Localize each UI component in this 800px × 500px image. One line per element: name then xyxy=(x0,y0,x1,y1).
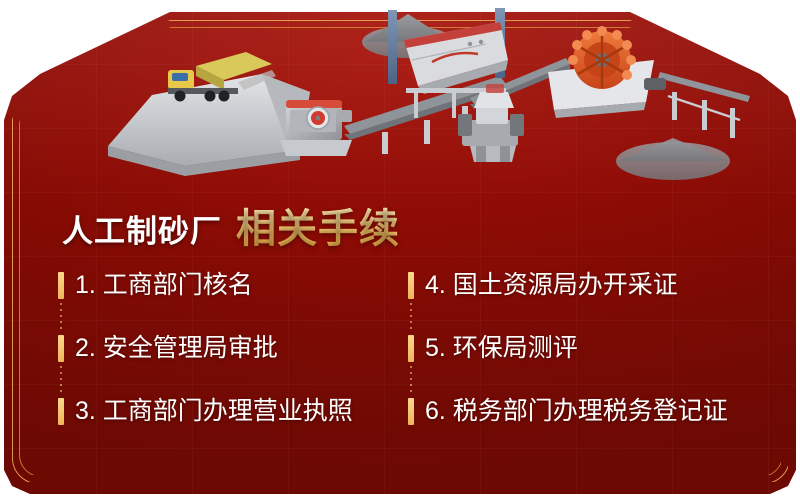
list-item-label: 3. 工商部门办理营业执照 xyxy=(75,394,353,428)
list-item-label: 6. 税务部门办理税务登记证 xyxy=(425,394,728,428)
connector-dots-icon xyxy=(60,303,62,329)
connector-dots-icon xyxy=(410,303,412,329)
plant-illustration xyxy=(0,0,800,190)
bullet-bar-icon xyxy=(58,272,64,299)
list-item-label: 1. 工商部门核名 xyxy=(75,268,253,302)
bullet-bar-icon xyxy=(408,335,414,362)
list-item[interactable]: 1. 工商部门核名 xyxy=(58,268,408,331)
title-primary: 人工制砂厂 xyxy=(62,214,222,249)
plant-illustration-svg xyxy=(0,0,800,195)
banner-title: 人工制砂厂相关手续 xyxy=(62,196,400,254)
list-item[interactable]: 4. 国土资源局办开采证 xyxy=(408,268,758,331)
banner-root: 人工制砂厂相关手续 1. 工商部门核名 2. 安全管理局审批 3. 工商部门办理… xyxy=(0,0,800,500)
list-item[interactable]: 6. 税务部门办理税务登记证 xyxy=(408,394,758,457)
list-item-label: 4. 国土资源局办开采证 xyxy=(425,268,678,302)
procedure-column-left: 1. 工商部门核名 2. 安全管理局审批 3. 工商部门办理营业执照 xyxy=(58,268,408,457)
procedure-column-right: 4. 国土资源局办开采证 5. 环保局测评 6. 税务部门办理税务登记证 xyxy=(408,268,758,457)
title-highlight: 相关手续 xyxy=(236,207,400,251)
bullet-bar-icon xyxy=(58,335,64,362)
connector-dots-icon xyxy=(60,366,62,392)
list-item[interactable]: 5. 环保局测评 xyxy=(408,331,758,394)
jaw-crusher xyxy=(280,100,352,156)
list-item-label: 2. 安全管理局审批 xyxy=(75,331,278,365)
connector-dots-icon xyxy=(410,366,412,392)
bullet-bar-icon xyxy=(408,272,414,299)
sand-washer-wheel xyxy=(548,26,666,118)
list-item-label: 5. 环保局测评 xyxy=(425,331,578,365)
bullet-bar-icon xyxy=(408,398,414,425)
bullet-bar-icon xyxy=(58,398,64,425)
list-item[interactable]: 3. 工商部门办理营业执照 xyxy=(58,394,408,457)
list-item[interactable]: 2. 安全管理局审批 xyxy=(58,331,408,394)
belt-conveyor xyxy=(658,72,750,138)
